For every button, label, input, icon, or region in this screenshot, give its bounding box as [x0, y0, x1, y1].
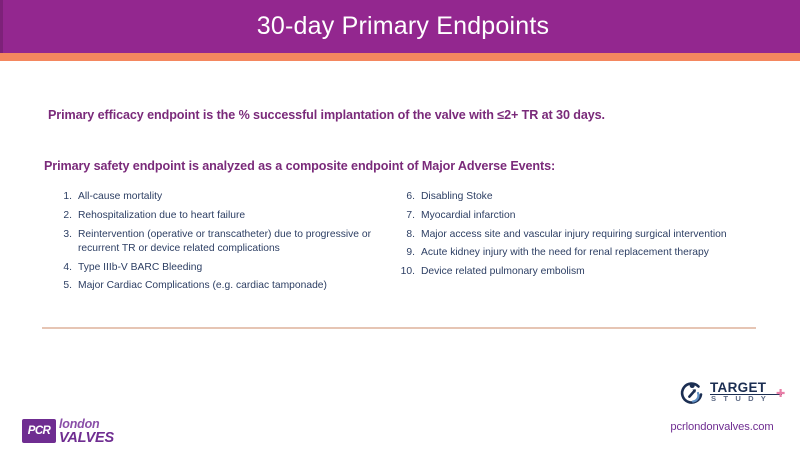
target-person-circle-icon	[678, 379, 706, 407]
list-item-number: 3.	[50, 228, 72, 242]
list-item-label: Disabling Stoke	[421, 190, 743, 204]
list-item: 9. Acute kidney injury with the need for…	[393, 246, 743, 260]
safety-endpoint-statement: Primary safety endpoint is analyzed as a…	[44, 159, 555, 173]
target-study-logo: TARGET S T U D Y ✚	[678, 379, 782, 407]
efficacy-endpoint-statement: Primary efficacy endpoint is the % succe…	[48, 108, 605, 122]
list-item-number: 1.	[50, 190, 72, 204]
pcr-london-valves-logo: PCR london VALVES	[22, 417, 132, 447]
header-accent-bar	[0, 53, 800, 61]
list-item-label: Acute kidney injury with the need for re…	[421, 246, 743, 260]
horizontal-divider	[42, 327, 756, 329]
list-item-label: Major Cardiac Complications (e.g. cardia…	[78, 279, 390, 293]
pcr-logo-line2: VALVES	[59, 430, 114, 446]
list-item-number: 7.	[393, 209, 415, 223]
list-item-label: Rehospitalization due to heart failure	[78, 209, 390, 223]
list-item: 8. Major access site and vascular injury…	[393, 228, 743, 242]
slide-canvas: 30-day Primary Endpoints Primary efficac…	[0, 0, 800, 450]
endpoint-list-left: 1. All-cause mortality 2. Rehospitalizat…	[50, 190, 390, 298]
list-item: 1. All-cause mortality	[50, 190, 390, 204]
list-item: 7. Myocardial infarction	[393, 209, 743, 223]
list-item-label: Reintervention (operative or transcathet…	[78, 228, 390, 256]
pcr-badge-icon: PCR	[22, 419, 56, 443]
pcr-badge-label: PCR	[22, 419, 56, 443]
list-item-label: All-cause mortality	[78, 190, 390, 204]
target-subtitle: S T U D Y	[711, 394, 768, 403]
list-item-number: 6.	[393, 190, 415, 204]
list-item-number: 4.	[50, 261, 72, 275]
list-item-number: 8.	[393, 228, 415, 242]
pcr-logo-line1: london	[59, 417, 99, 431]
list-item-label: Type IIIb-V BARC Bleeding	[78, 261, 390, 275]
website-url: pcrlondonvalves.com	[657, 421, 787, 433]
list-item: 3. Reintervention (operative or transcat…	[50, 228, 390, 256]
sparkle-icon: ✚	[776, 390, 785, 399]
target-wordmark: TARGET	[710, 380, 766, 395]
list-item-number: 5.	[50, 279, 72, 293]
list-item-number: 2.	[50, 209, 72, 223]
list-item: 4. Type IIIb-V BARC Bleeding	[50, 261, 390, 275]
page-title: 30-day Primary Endpoints	[3, 0, 800, 53]
list-item: 6. Disabling Stoke	[393, 190, 743, 204]
slide-header-bar: 30-day Primary Endpoints	[0, 0, 800, 53]
list-item-number: 10.	[393, 265, 415, 279]
list-item: 5. Major Cardiac Complications (e.g. car…	[50, 279, 390, 293]
list-item-number: 9.	[393, 246, 415, 260]
list-item-label: Device related pulmonary embolism	[421, 265, 743, 279]
endpoint-list-right: 6. Disabling Stoke 7. Myocardial infarct…	[393, 190, 743, 284]
list-item: 10. Device related pulmonary embolism	[393, 265, 743, 279]
list-item: 2. Rehospitalization due to heart failur…	[50, 209, 390, 223]
list-item-label: Major access site and vascular injury re…	[421, 228, 743, 242]
list-item-label: Myocardial infarction	[421, 209, 743, 223]
